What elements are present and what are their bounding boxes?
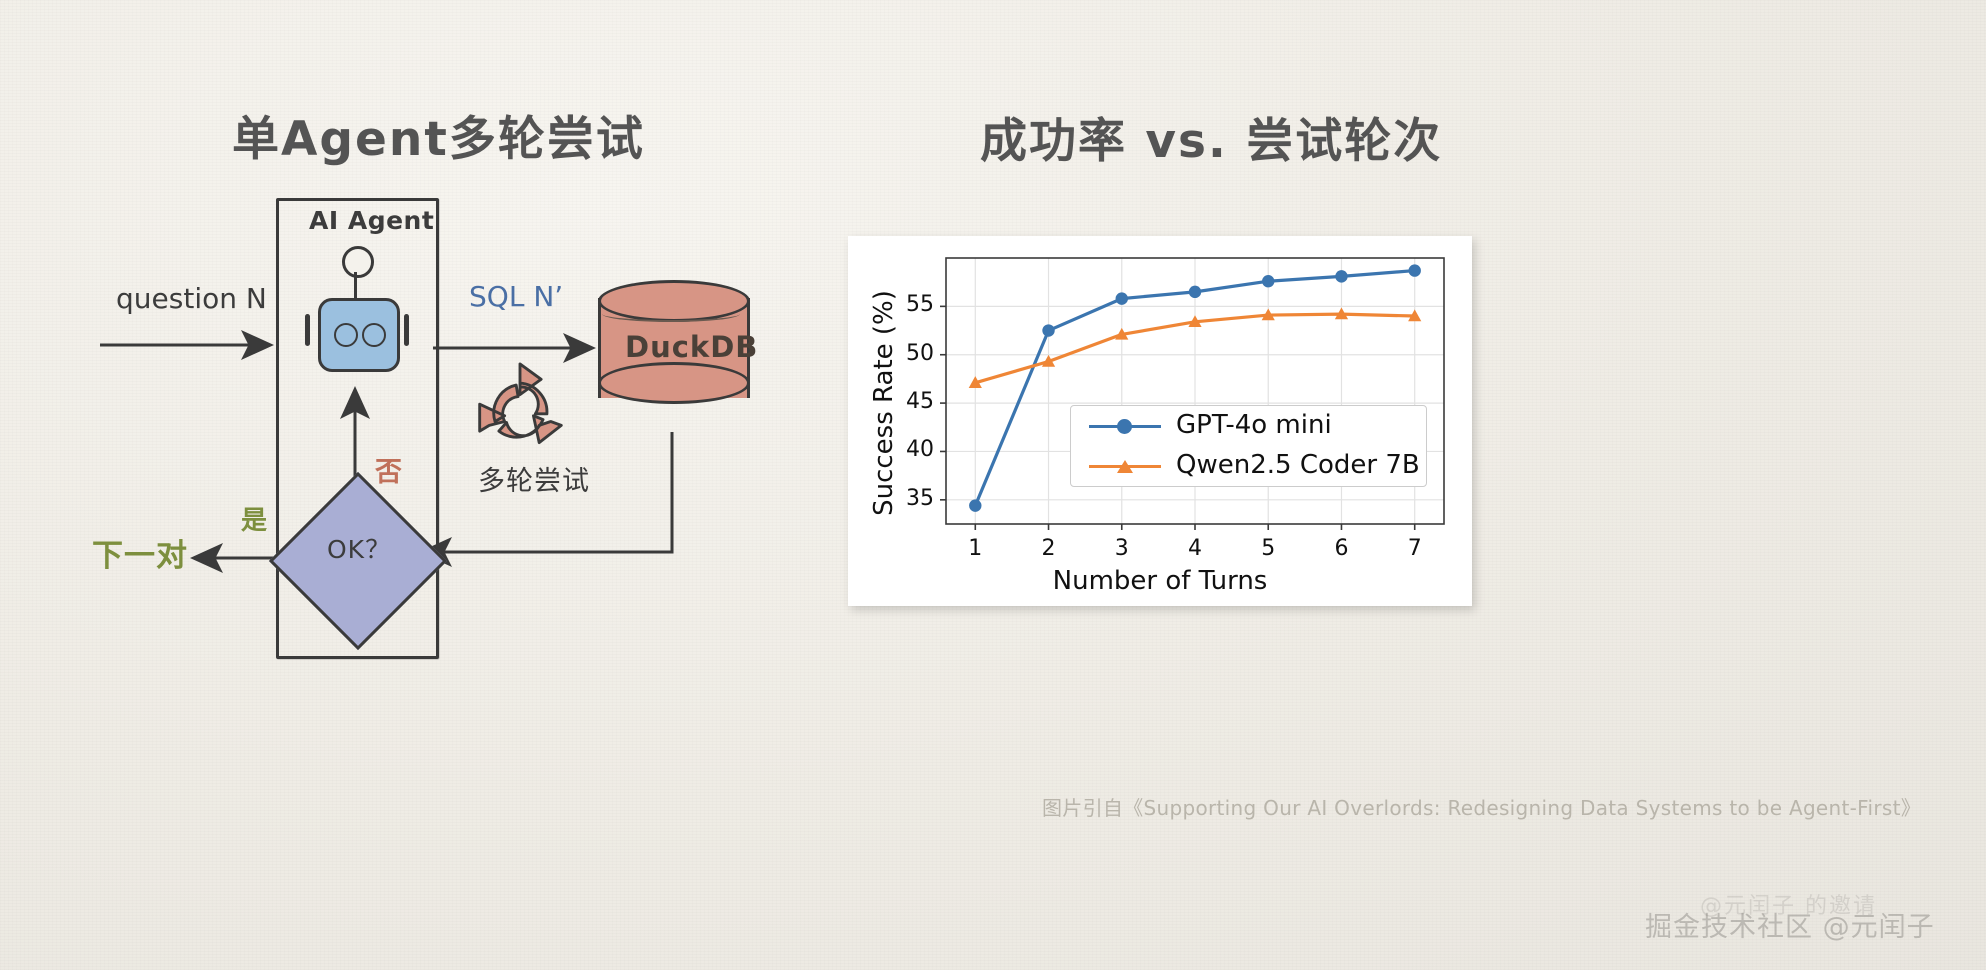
question-label: question N	[116, 282, 267, 315]
robot-eye-right	[362, 323, 386, 347]
legend-item[interactable]: GPT-4o mini	[1071, 406, 1426, 446]
chart-plot-wrapper: Success Rate (%) Number of Turns 3540455…	[848, 236, 1472, 606]
agent-flow-diagram: AI Agent question N SQL N’ DuckDB 多轮尝试 否…	[0, 170, 860, 690]
robot-head	[342, 246, 374, 278]
retry-loop-icon	[472, 362, 568, 458]
decision-label: OK？	[327, 530, 391, 566]
legend-label: GPT-4o mini	[1176, 410, 1332, 440]
robot-body	[318, 298, 400, 372]
retry-label: 多轮尝试	[478, 459, 590, 498]
robot-ear-right	[404, 314, 409, 346]
x-tick-label: 5	[1253, 536, 1283, 561]
y-tick-label: 45	[894, 389, 934, 414]
page-title-left: 单Agent多轮尝试	[232, 100, 645, 169]
branch-yes-label: 是	[241, 500, 267, 537]
legend-triangle-icon	[1117, 460, 1133, 473]
agent-title-label: AI Agent	[309, 206, 434, 235]
y-tick-label: 35	[894, 486, 934, 511]
robot-ear-left	[305, 314, 310, 346]
y-tick-label: 40	[894, 437, 934, 462]
x-tick-label: 1	[960, 536, 990, 561]
chart-legend: GPT-4o miniQwen2.5 Coder 7B	[1070, 405, 1427, 487]
x-tick-label: 6	[1326, 536, 1356, 561]
legend-item[interactable]: Qwen2.5 Coder 7B	[1071, 446, 1426, 486]
page-title-right: 成功率 vs. 尝试轮次	[980, 102, 1442, 171]
y-tick-label: 55	[894, 292, 934, 317]
sql-label: SQL N’	[469, 280, 563, 313]
branch-no-label: 否	[375, 450, 402, 489]
robot-eye-left	[334, 323, 358, 347]
success-rate-chart-card: Success Rate (%) Number of Turns 3540455…	[848, 236, 1472, 606]
x-axis-title: Number of Turns	[848, 566, 1472, 596]
watermark-text: 掘金技术社区 @元闰子	[1645, 905, 1935, 944]
legend-circle-icon	[1117, 419, 1132, 434]
citation-text: 图片引自《Supporting Our AI Overlords: Redesi…	[1042, 792, 1921, 821]
x-tick-label: 4	[1180, 536, 1210, 561]
database-label: DuckDB	[625, 330, 758, 364]
cylinder-bottom	[598, 362, 750, 404]
y-tick-label: 50	[894, 341, 934, 366]
x-tick-label: 7	[1400, 536, 1430, 561]
legend-label: Qwen2.5 Coder 7B	[1176, 450, 1420, 480]
cylinder-lip	[602, 306, 740, 322]
robot-antenna	[354, 272, 357, 300]
robot-icon	[302, 246, 412, 381]
x-tick-label: 3	[1107, 536, 1137, 561]
next-pair-label: 下一对	[92, 530, 188, 575]
x-tick-label: 2	[1034, 536, 1064, 561]
